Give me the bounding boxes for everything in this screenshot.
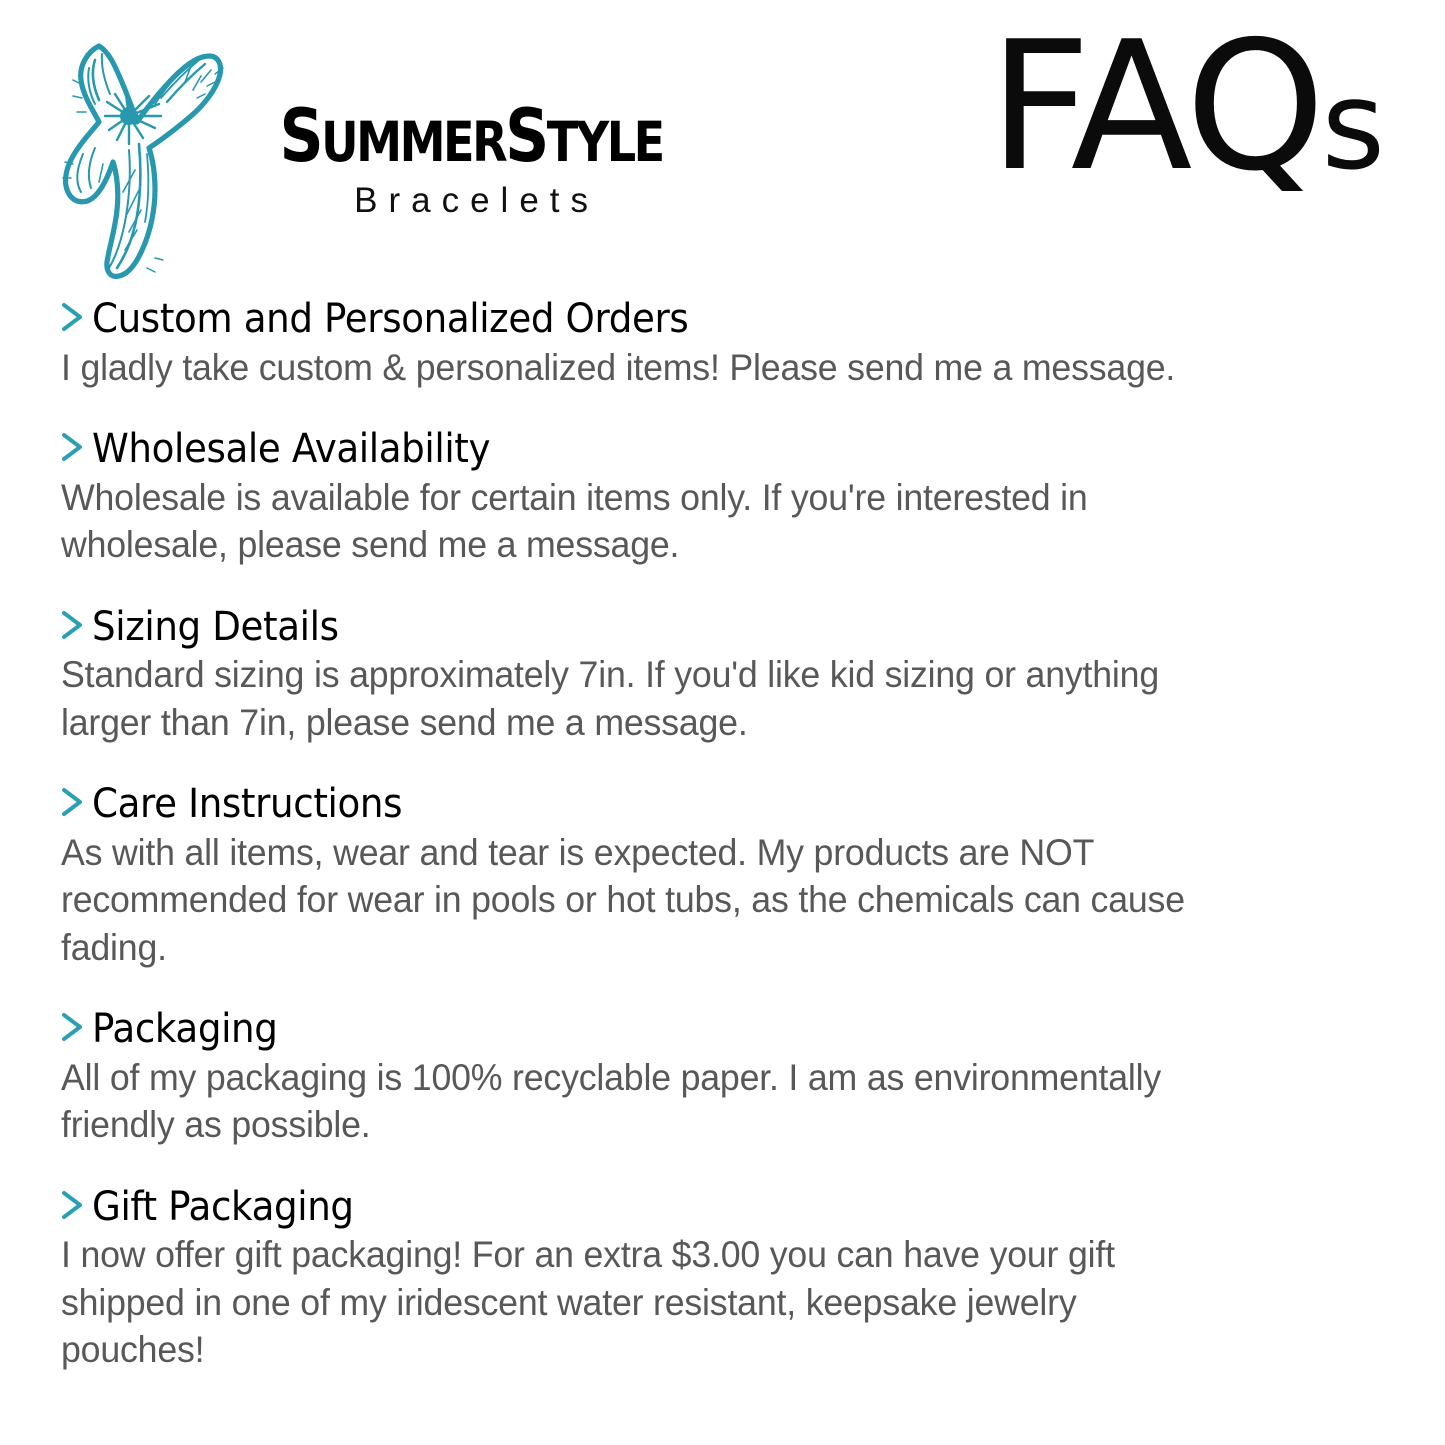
faq-heading-label: Custom and Personalized Orders	[92, 297, 688, 342]
faq-body: Standard sizing is approximately 7in. If…	[61, 651, 1204, 746]
faq-body: All of my packaging is 100% recyclable p…	[61, 1054, 1204, 1149]
faq-heading[interactable]: Gift Packaging	[60, 1185, 1245, 1230]
brand-wordmark: SUMMERSTYLE Bracelets	[243, 24, 699, 221]
chevron-right-icon	[60, 300, 86, 334]
faq-heading[interactable]: Care Instructions	[60, 782, 1245, 827]
page-title: FAQs	[989, 18, 1385, 196]
page-header: SUMMERSTYLE Bracelets FAQs	[0, 0, 1445, 285]
chevron-right-icon	[60, 1010, 86, 1044]
starfish-icon	[55, 24, 237, 282]
faq-heading-label: Wholesale Availability	[92, 427, 490, 472]
brand-name-style: TYLE	[547, 110, 663, 174]
faq-item: Packaging All of my packaging is 100% re…	[60, 1007, 1245, 1149]
page-title-tail: s	[1321, 55, 1385, 197]
faq-item: Wholesale Availability Wholesale is avai…	[60, 427, 1245, 569]
faq-item: Care Instructions As with all items, wea…	[60, 782, 1245, 971]
brand-name-s2: S	[505, 94, 547, 179]
brand-name-summer: UMMER	[321, 110, 505, 174]
brand-name: SUMMERSTYLE	[279, 102, 662, 171]
chevron-right-icon	[60, 430, 86, 464]
brand-subtitle: Bracelets	[343, 181, 599, 221]
faq-heading[interactable]: Wholesale Availability	[60, 427, 1245, 472]
chevron-right-icon	[60, 1188, 86, 1222]
faq-item: Sizing Details Standard sizing is approx…	[60, 605, 1245, 747]
faq-body: I now offer gift packaging! For an extra…	[61, 1231, 1204, 1373]
faq-item: Custom and Personalized Orders I gladly …	[60, 297, 1245, 391]
brand-lockup: SUMMERSTYLE Bracelets	[55, 24, 699, 282]
faq-page: SUMMERSTYLE Bracelets FAQs Custom and Pe…	[0, 0, 1445, 1445]
faq-heading-label: Sizing Details	[92, 605, 339, 650]
brand-name-s1: S	[279, 94, 321, 179]
faq-body: Wholesale is available for certain items…	[61, 474, 1204, 569]
faq-list: Custom and Personalized Orders I gladly …	[60, 297, 1245, 1373]
faq-item: Gift Packaging I now offer gift packagin…	[60, 1185, 1245, 1374]
page-title-main: FAQ	[989, 3, 1322, 210]
chevron-right-icon	[60, 785, 86, 819]
faq-heading[interactable]: Custom and Personalized Orders	[60, 297, 1245, 342]
faq-heading[interactable]: Sizing Details	[60, 605, 1245, 650]
faq-body: I gladly take custom & personalized item…	[61, 344, 1204, 391]
faq-heading-label: Gift Packaging	[92, 1185, 354, 1230]
faq-heading-label: Care Instructions	[92, 782, 402, 827]
faq-body: As with all items, wear and tear is expe…	[61, 829, 1204, 971]
faq-heading-label: Packaging	[92, 1007, 277, 1052]
chevron-right-icon	[60, 608, 86, 642]
faq-heading[interactable]: Packaging	[60, 1007, 1245, 1052]
